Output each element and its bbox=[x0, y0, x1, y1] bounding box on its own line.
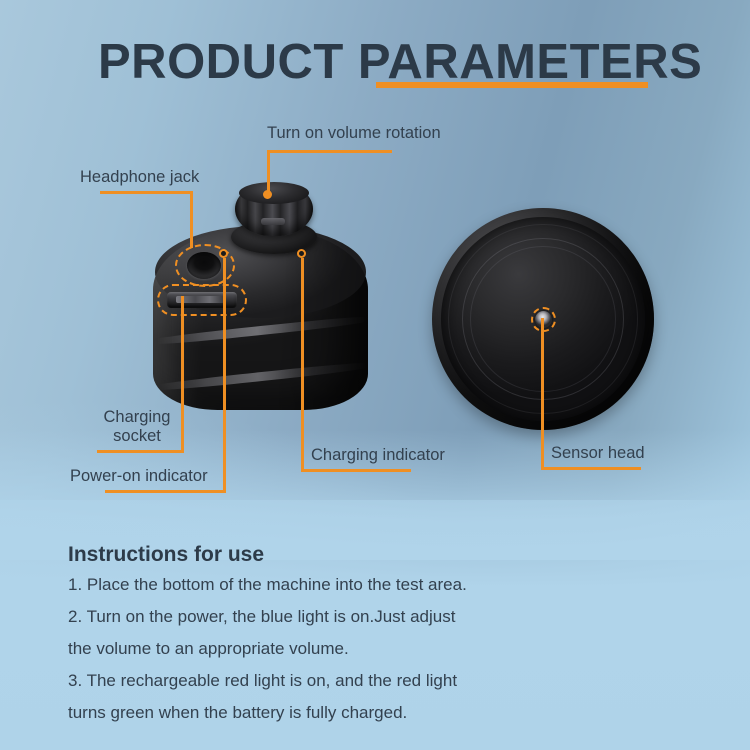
callout-label-power-on-indicator: Power-on indicator bbox=[70, 466, 208, 486]
charging-socket-highlight-icon bbox=[157, 284, 247, 316]
callout-leader-power-on-indicator bbox=[223, 258, 226, 490]
callout-underline-headphone-jack bbox=[100, 191, 193, 194]
volume-knob-notch bbox=[261, 218, 285, 225]
callout-dot-volume-rotation bbox=[263, 190, 272, 199]
instruction-line: turns green when the battery is fully ch… bbox=[68, 704, 708, 721]
callout-label-charging-indicator: Charging indicator bbox=[311, 445, 445, 465]
instructions-heading: Instructions for use bbox=[68, 543, 708, 567]
callout-underline-sensor-head bbox=[541, 467, 641, 470]
callout-dot-charging-indicator bbox=[297, 249, 306, 258]
callout-label-headphone-jack: Headphone jack bbox=[80, 167, 199, 187]
callout-leader-charging-socket bbox=[181, 296, 184, 450]
page-title-block: PRODUCT PARAMETERS bbox=[98, 38, 702, 87]
callout-leader-headphone-jack bbox=[190, 191, 193, 248]
callout-underline-volume-rotation bbox=[267, 150, 392, 153]
title-underline-accent bbox=[376, 82, 648, 88]
instruction-line: 1. Place the bottom of the machine into … bbox=[68, 576, 708, 593]
callout-underline-charging-socket bbox=[97, 450, 184, 453]
callout-underline-power-on-indicator bbox=[105, 490, 226, 493]
callout-underline-charging-indicator bbox=[301, 469, 411, 472]
callout-label-charging-socket: Charging socket bbox=[97, 408, 177, 446]
instruction-line: 3. The rechargeable red light is on, and… bbox=[68, 672, 708, 689]
instructions-section: Instructions for use 1. Place the bottom… bbox=[68, 543, 708, 736]
callout-label-sensor-head: Sensor head bbox=[551, 443, 645, 463]
callout-dot-power-on-indicator bbox=[219, 249, 228, 258]
callout-leader-charging-indicator bbox=[301, 258, 304, 469]
callout-leader-volume-rotation bbox=[267, 150, 270, 194]
callout-label-charging-socket-line1: Charging bbox=[104, 408, 171, 426]
page-title: PRODUCT PARAMETERS bbox=[98, 38, 702, 87]
callout-label-volume-rotation: Turn on volume rotation bbox=[267, 123, 441, 143]
instruction-line: 2. Turn on the power, the blue light is … bbox=[68, 608, 708, 625]
callout-label-charging-socket-line2: socket bbox=[113, 427, 161, 445]
instruction-line: the volume to an appropriate volume. bbox=[68, 640, 708, 657]
volume-knob-top-face bbox=[239, 182, 309, 204]
callout-leader-sensor-head bbox=[541, 318, 544, 467]
